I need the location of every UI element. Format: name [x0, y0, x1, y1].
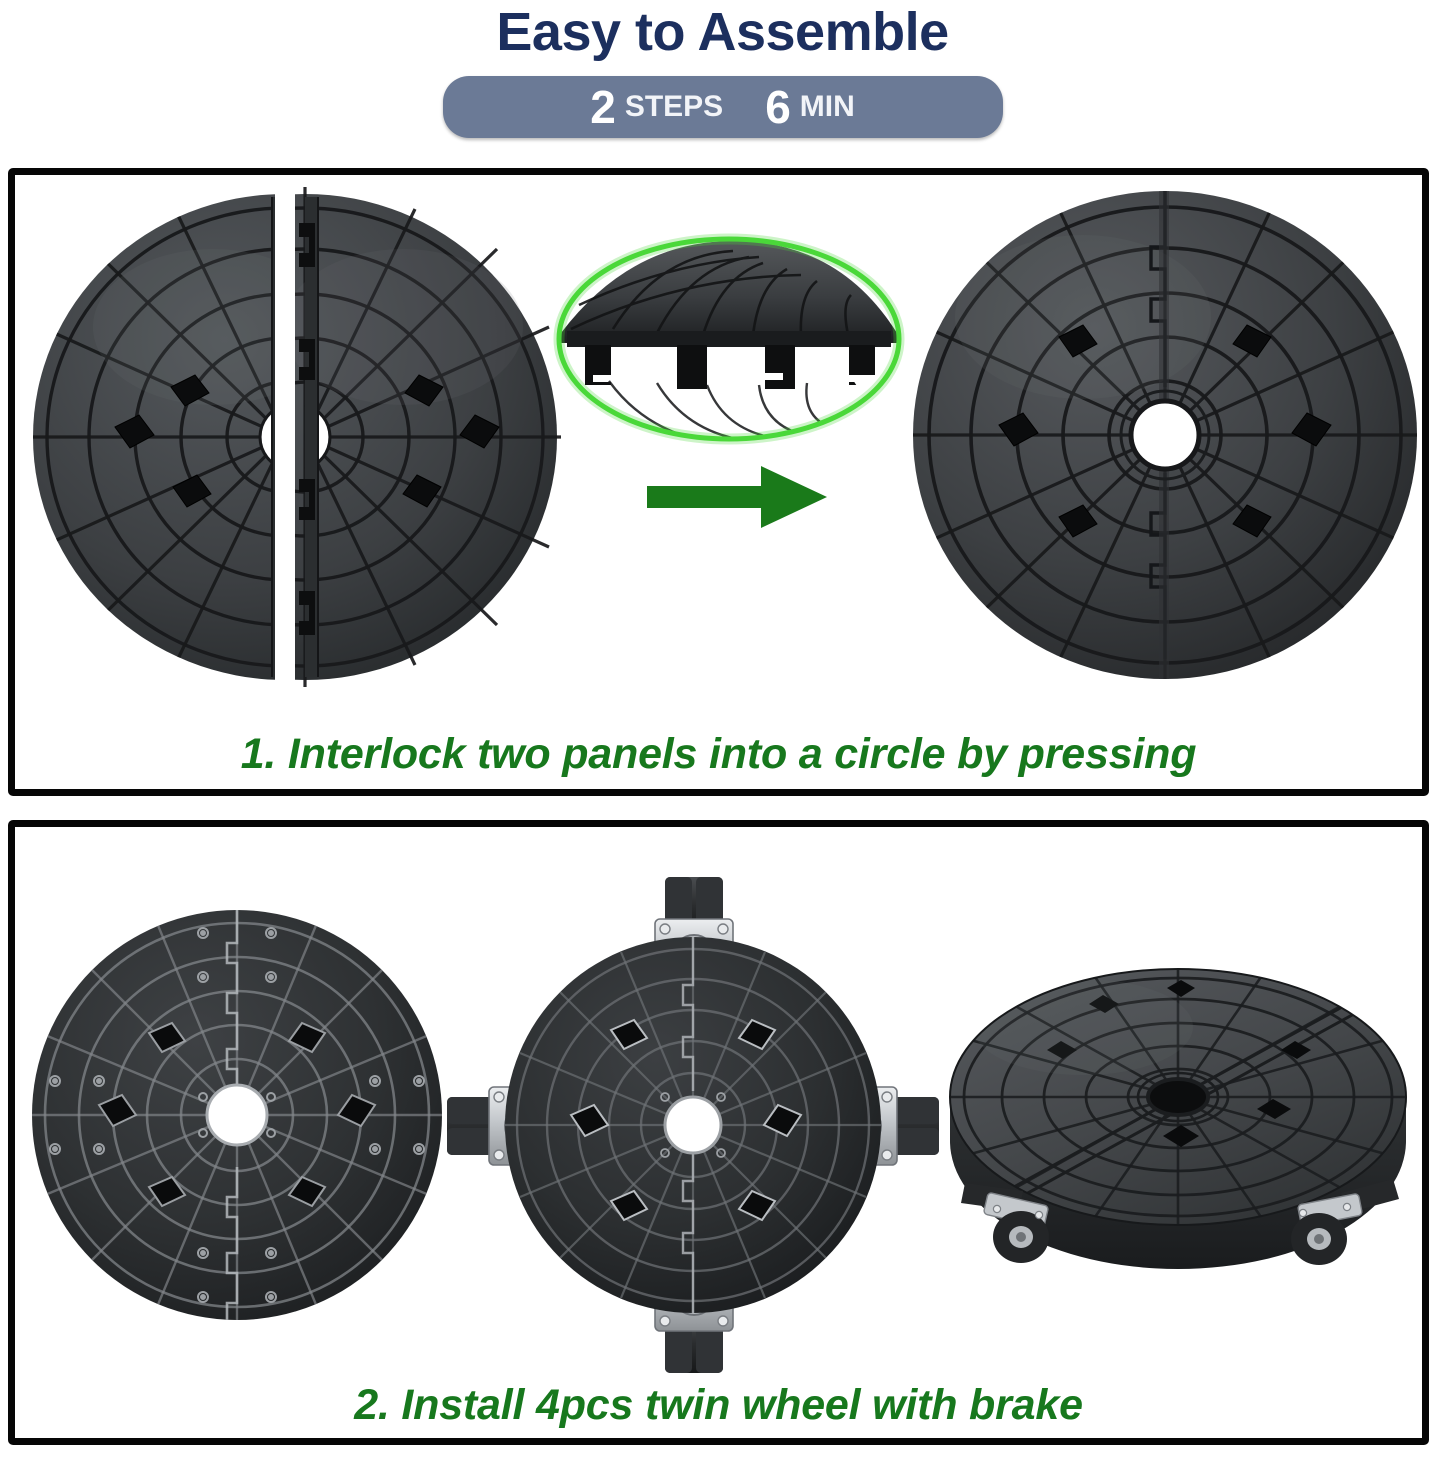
- figure-disc-with-casters: [443, 875, 943, 1375]
- step-2-panel: 2. Install 4pcs twin wheel with brake: [8, 820, 1429, 1445]
- figure-interlock-closeup-inset: [553, 233, 905, 445]
- steps-count: 2: [590, 84, 625, 130]
- figure-finished-plant-caddy: [943, 947, 1413, 1297]
- assembly-summary-badge: 2 STEPS 6 MIN: [443, 76, 1003, 138]
- step-1-panel: 1. Interlock two panels into a circle by…: [8, 168, 1429, 796]
- minutes-count: 6: [765, 84, 800, 130]
- minutes-label: MIN: [800, 84, 855, 130]
- figure-disc-underside: [27, 905, 447, 1325]
- header: Easy to Assemble 2 STEPS 6 MIN: [0, 0, 1445, 138]
- figure-two-half-panels: [23, 187, 563, 687]
- steps-label: STEPS: [625, 84, 765, 130]
- figure-assembled-disc: [907, 185, 1423, 685]
- step-2-caption: 2. Install 4pcs twin wheel with brake: [15, 1381, 1422, 1430]
- figure-assembly-arrow: [643, 460, 833, 534]
- step-1-caption: 1. Interlock two panels into a circle by…: [15, 730, 1422, 779]
- badge-wrapper: 2 STEPS 6 MIN: [0, 76, 1445, 138]
- page-title: Easy to Assemble: [0, 2, 1445, 62]
